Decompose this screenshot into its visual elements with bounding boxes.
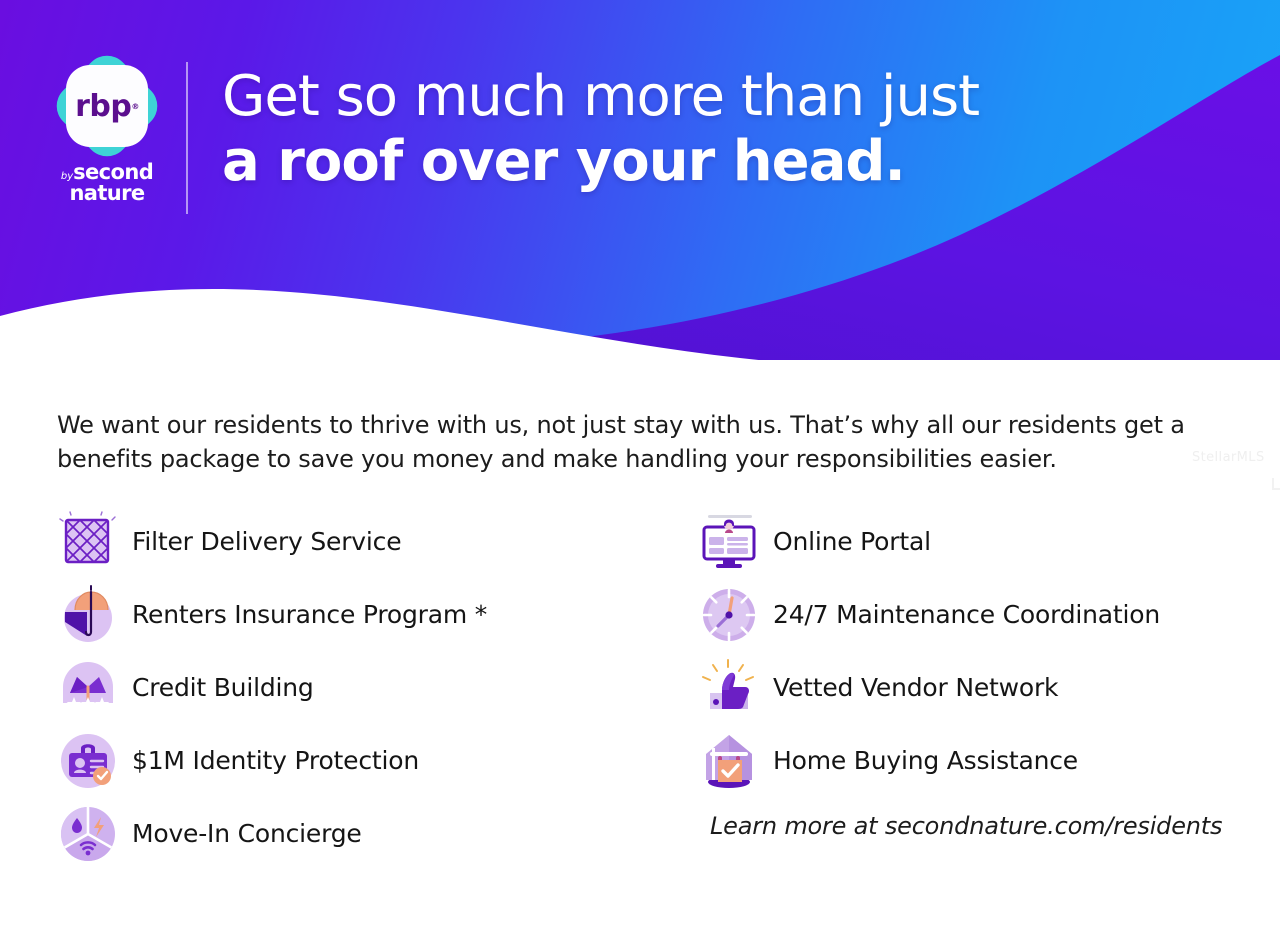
benefit-move-in-concierge: Move-In Concierge [57, 797, 677, 870]
umbrella-icon [57, 584, 119, 646]
learn-more-link[interactable]: Learn more at secondnature.com/residents [710, 812, 1222, 840]
headline-line-1: Get so much more than just [222, 66, 1082, 129]
benefit-renters-insurance-program: Renters Insurance Program * [57, 578, 677, 651]
thumbs-up-icon [698, 657, 760, 719]
benefit-label: Filter Delivery Service [132, 527, 401, 556]
badge-text-value: rbp [75, 89, 131, 124]
house-sign-icon [698, 730, 760, 792]
rbp-badge-icon: rbp® [57, 56, 157, 156]
crown-stars-icon [57, 657, 119, 719]
byline-nature: nature [48, 183, 166, 204]
logo-headline-divider [186, 62, 188, 214]
benefit-filter-delivery-service: Filter Delivery Service [57, 505, 677, 578]
benefit-label: Move-In Concierge [132, 819, 362, 848]
benefit-credit-building: Credit Building [57, 651, 677, 724]
benefit-label: Online Portal [773, 527, 931, 556]
benefit-maintenance-coordination: 24/7 Maintenance Coordination [698, 578, 1268, 651]
stellarmls-watermark: StellarMLS [1192, 450, 1265, 465]
rbp-logo: rbp® bysecond nature [48, 56, 166, 208]
intro-line-1: We want our residents to thrive with us,… [57, 408, 1227, 442]
intro-paragraph: We want our residents to thrive with us,… [57, 408, 1227, 476]
id-badge-icon [57, 730, 119, 792]
benefit-label: Renters Insurance Program * [132, 600, 487, 629]
intro-line-2: benefits package to save you money and m… [57, 442, 1227, 476]
benefit-home-buying-assistance: Home Buying Assistance [698, 724, 1268, 797]
benefits-column-right: Online Portal 24/7 Mai [698, 505, 1268, 797]
logo-byline: bysecond nature [48, 162, 166, 203]
benefit-vetted-vendor-network: Vetted Vendor Network [698, 651, 1268, 724]
benefit-label: 24/7 Maintenance Coordination [773, 600, 1160, 629]
badge-label: rbp® [57, 56, 157, 156]
benefit-identity-protection: $1M Identity Protection [57, 724, 677, 797]
hero-banner: rbp® bysecond nature Get so much more th… [0, 0, 1280, 360]
benefit-label: Credit Building [132, 673, 314, 702]
benefits-column-left: Filter Delivery Service Renters Insuranc… [57, 505, 677, 870]
benefit-label: $1M Identity Protection [132, 746, 419, 775]
monitor-icon [698, 511, 760, 573]
benefit-label: Home Buying Assistance [773, 746, 1078, 775]
clock-icon [698, 584, 760, 646]
hero-headline: Get so much more than just a roof over y… [222, 66, 1082, 193]
air-filter-icon [57, 511, 119, 573]
benefit-label: Vetted Vendor Network [773, 673, 1058, 702]
benefit-online-portal: Online Portal [698, 505, 1268, 578]
badge-registered-mark: ® [131, 102, 139, 111]
watermark-corner-mark [1272, 478, 1280, 490]
utilities-circle-icon [57, 803, 119, 865]
headline-line-2: a roof over your head. [222, 131, 1082, 194]
